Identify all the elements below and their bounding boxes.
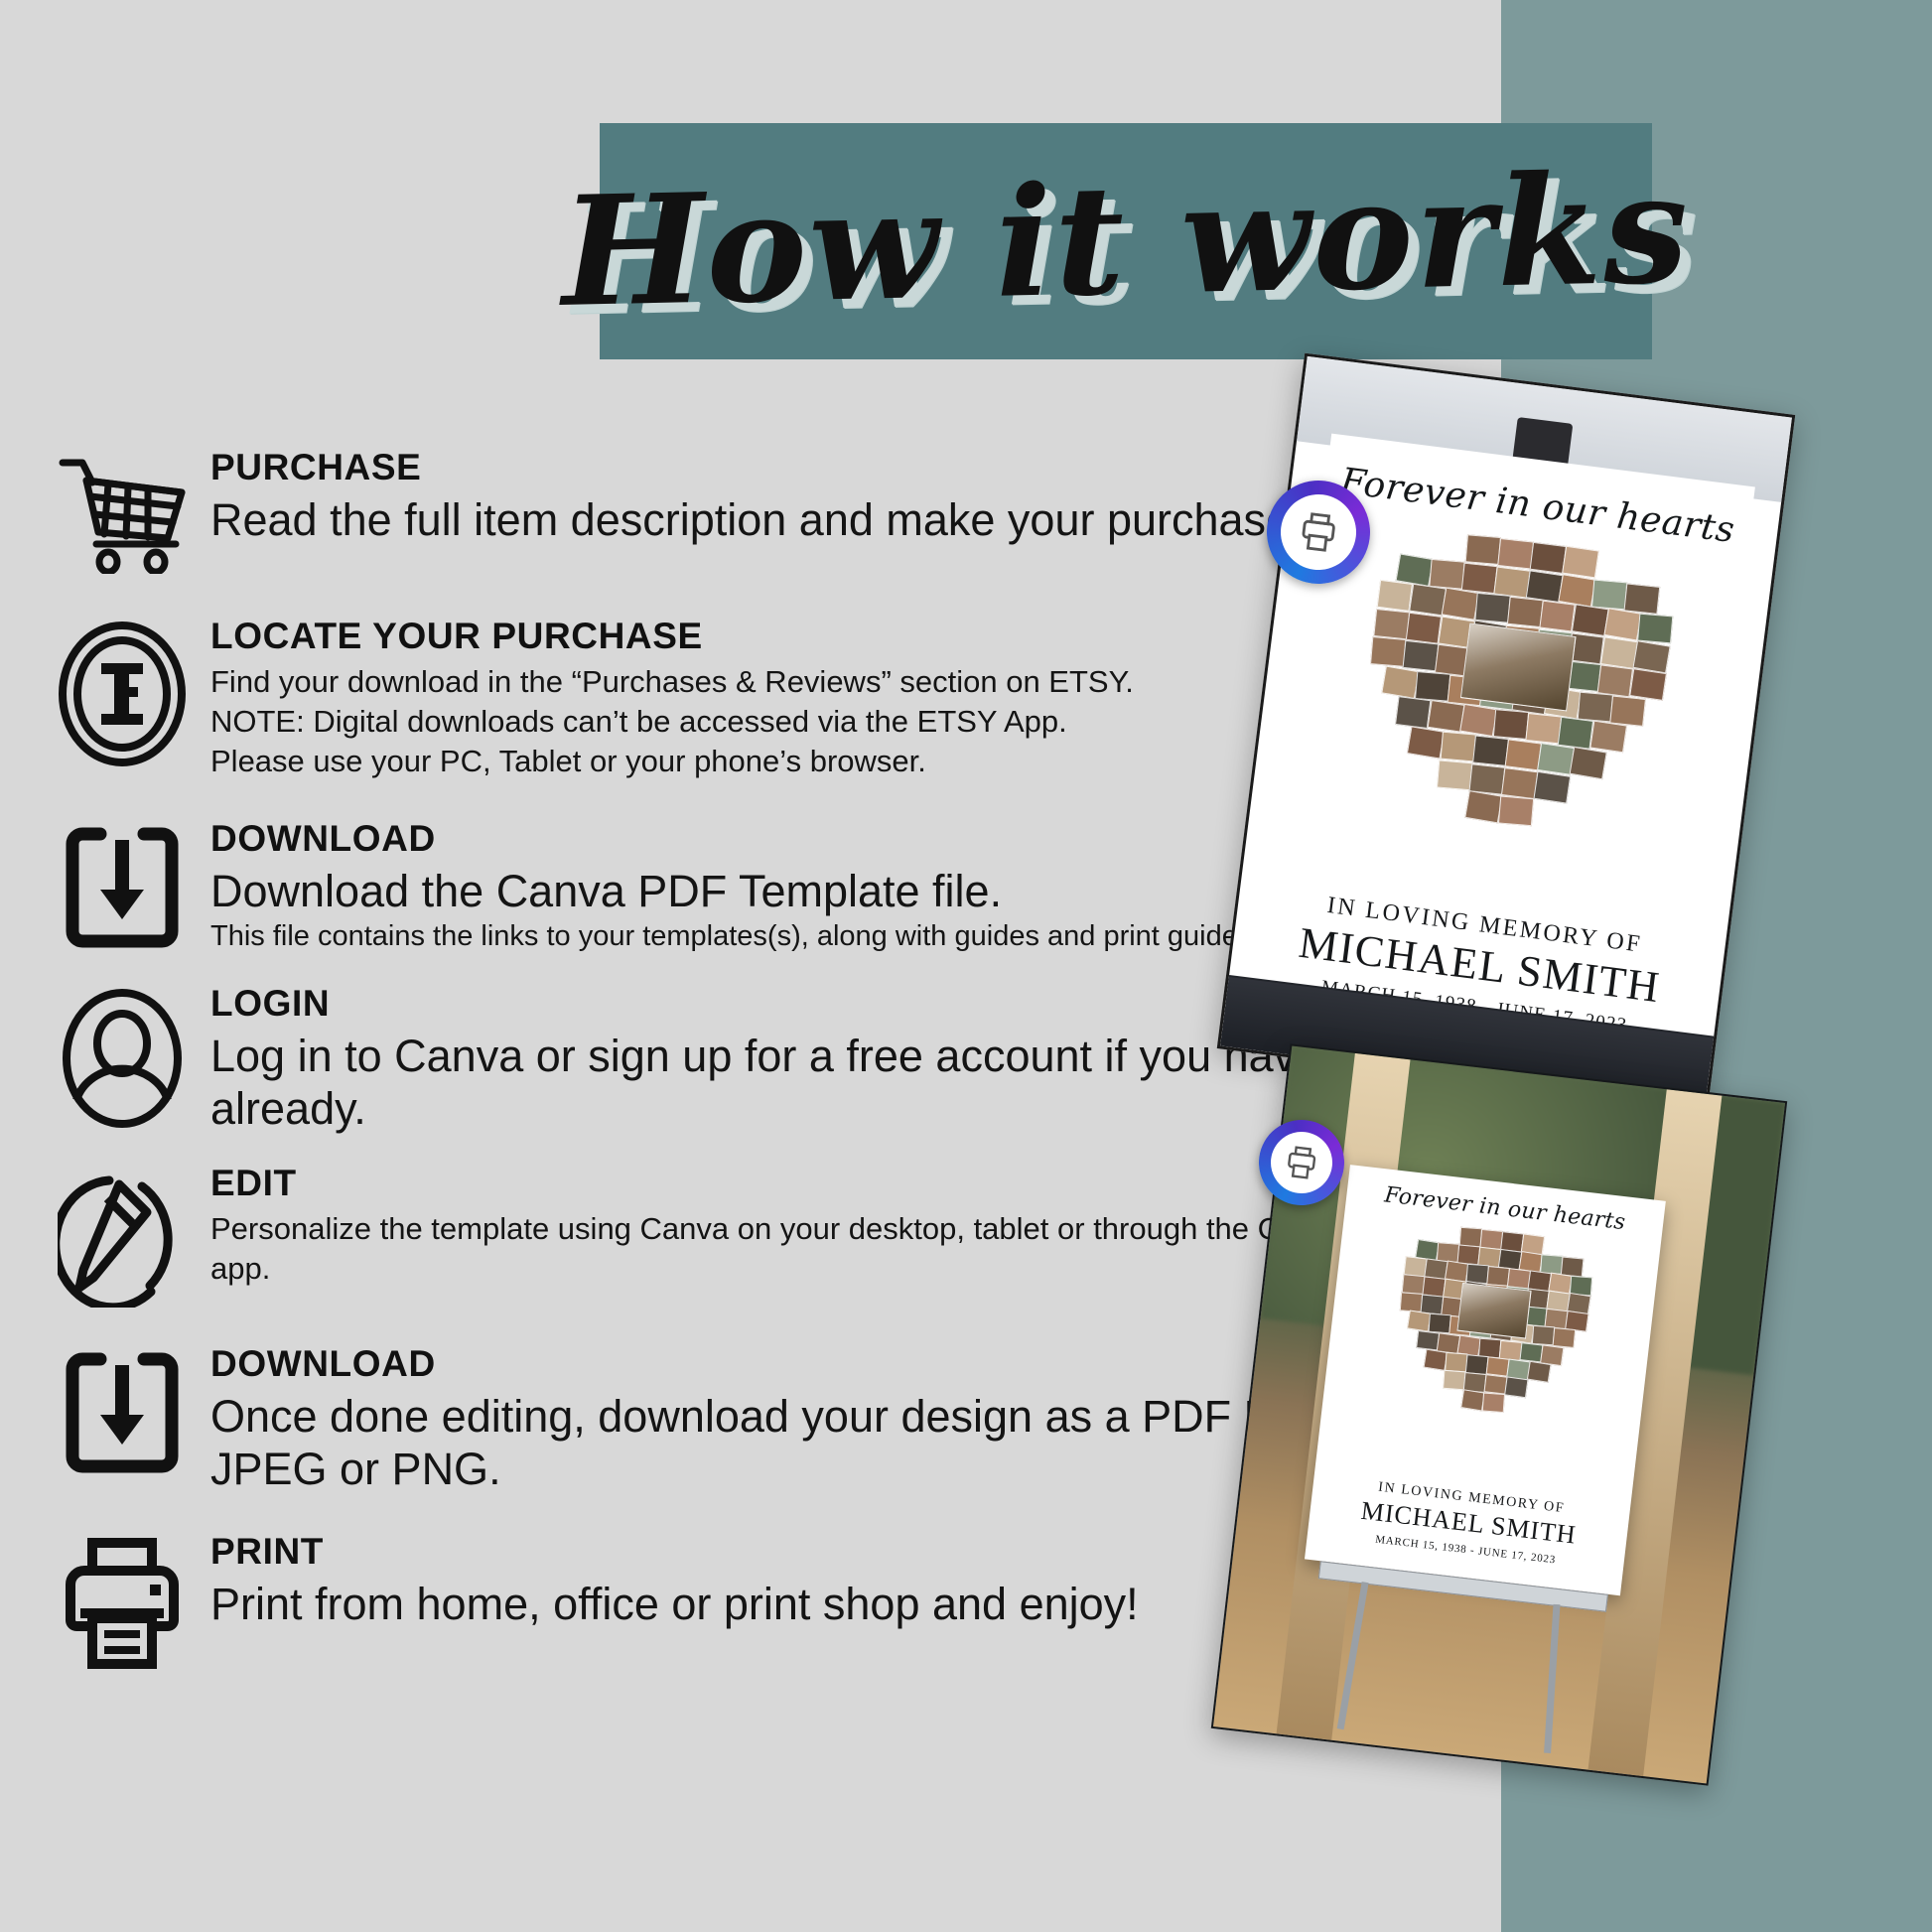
collage-photo-tile bbox=[1395, 696, 1432, 728]
title-banner bbox=[600, 123, 1652, 359]
photo-heart-collage bbox=[1377, 1219, 1605, 1431]
collage-photo-tile bbox=[1591, 579, 1627, 610]
step-download-body: DOWNLOAD Download the Canva PDF Template… bbox=[197, 820, 1246, 955]
collage-photo-tile bbox=[1578, 692, 1613, 723]
collage-photo-tile bbox=[1396, 553, 1434, 587]
collage-photo-tile bbox=[1526, 570, 1563, 603]
collage-photo-tile bbox=[1474, 593, 1510, 623]
user-account-icon bbox=[48, 985, 197, 1128]
etsy-e-icon bbox=[48, 618, 197, 766]
easel-stand-leg-right bbox=[1544, 1604, 1560, 1753]
collage-photo-tile bbox=[1493, 566, 1530, 598]
poster-mockup-top: Forever in our hearts IN LOVING MEMORY O… bbox=[1217, 353, 1796, 1111]
step-purchase: PURCHASE Read the full item description … bbox=[48, 449, 1378, 574]
collage-photo-tile bbox=[1571, 604, 1607, 636]
step-print-body: PRINT Print from home, office or print s… bbox=[197, 1533, 1139, 1630]
collage-photo-tile bbox=[1570, 747, 1607, 780]
collage-photo-tile bbox=[1506, 597, 1542, 628]
collage-photo-tile bbox=[1603, 608, 1641, 641]
collage-photo-tile bbox=[1415, 671, 1450, 702]
step-locate-your-purchase: LOCATE YOUR PURCHASE Find your download … bbox=[48, 618, 1378, 782]
collage-photo-tile bbox=[1624, 583, 1660, 615]
badge-inner bbox=[1267, 1128, 1335, 1196]
collage-photo-tile bbox=[1562, 546, 1598, 579]
download-icon bbox=[48, 1345, 197, 1476]
collage-photo-tile bbox=[1369, 636, 1405, 667]
collage-photo-tile bbox=[1537, 743, 1574, 775]
collage-photo-tile bbox=[1505, 739, 1542, 770]
step-print: PRINT Print from home, office or print s… bbox=[48, 1533, 1378, 1670]
collage-photo-tile bbox=[1492, 710, 1528, 741]
step-locate-body: LOCATE YOUR PURCHASE Find your download … bbox=[197, 618, 1134, 782]
collage-photo-tile bbox=[1441, 588, 1478, 621]
collage-photo-tile bbox=[1405, 612, 1442, 643]
step-text-line-3: Please use your PC, Tablet or your phone… bbox=[210, 742, 1134, 781]
collage-photo-tile bbox=[1596, 665, 1633, 697]
shopping-cart-icon bbox=[48, 449, 197, 574]
step-title: PURCHASE bbox=[210, 449, 1304, 487]
collage-photo-tile bbox=[1530, 542, 1567, 574]
step-download-template: DOWNLOAD Download the Canva PDF Template… bbox=[48, 820, 1378, 955]
step-login-body: LOGIN Log in to Canva or sign up for a f… bbox=[197, 985, 1378, 1135]
step-title: EDIT bbox=[210, 1165, 1378, 1203]
collage-photo-tile bbox=[1629, 668, 1666, 701]
step-edit-body: EDIT Personalize the template using Canv… bbox=[197, 1165, 1378, 1289]
step-edit: EDIT Personalize the template using Canv… bbox=[48, 1165, 1378, 1308]
step-purchase-body: PURCHASE Read the full item description … bbox=[197, 449, 1304, 546]
collage-photo-tile bbox=[1557, 717, 1593, 749]
badge-inner bbox=[1277, 490, 1361, 575]
step-login: LOGIN Log in to Canva or sign up for a f… bbox=[48, 985, 1378, 1135]
step-text: Log in to Canva or sign up for a free ac… bbox=[210, 1030, 1378, 1135]
collage-photo-tile bbox=[1468, 763, 1504, 795]
collage-photo-tile bbox=[1373, 609, 1409, 640]
collage-photo-tile bbox=[1599, 636, 1636, 669]
collage-photo-tile bbox=[1441, 732, 1476, 762]
collage-photo-tile bbox=[1525, 713, 1561, 745]
step-text: Once done editing, download your design … bbox=[210, 1390, 1378, 1495]
step-text: Read the full item description and make … bbox=[210, 493, 1304, 546]
collage-photo-tile bbox=[1381, 665, 1419, 699]
collage-photo-tile bbox=[1464, 790, 1502, 824]
step-title: LOGIN bbox=[210, 985, 1378, 1024]
collage-photo-tile bbox=[1637, 614, 1673, 644]
step-text: This file contains the links to your tem… bbox=[210, 917, 1246, 955]
collage-photo-tile bbox=[1539, 601, 1576, 632]
collage-photo-tile bbox=[1376, 580, 1413, 612]
collage-photo-tile bbox=[1498, 796, 1534, 827]
printer-icon bbox=[48, 1533, 197, 1670]
collage-photo-tile bbox=[1461, 562, 1497, 594]
pencil-edit-icon bbox=[48, 1165, 197, 1308]
collage-photo-tile bbox=[1402, 640, 1438, 672]
collage-photo-tile bbox=[1437, 759, 1472, 790]
collage-photo-tile bbox=[1589, 721, 1626, 754]
step-headline: Download the Canva PDF Template file. bbox=[210, 865, 1246, 917]
collage-photo-tile bbox=[1552, 1327, 1576, 1348]
collage-photo-tile bbox=[1478, 1337, 1501, 1357]
step-text-line-2: NOTE: Digital downloads can’t be accesse… bbox=[210, 702, 1134, 742]
download-icon bbox=[48, 820, 197, 951]
step-download-design: DOWNLOAD Once done editing, download you… bbox=[48, 1345, 1378, 1495]
collage-photo-tile bbox=[1429, 558, 1464, 589]
step-title: DOWNLOAD bbox=[210, 820, 1246, 859]
collage-photo-tile bbox=[1527, 1360, 1552, 1382]
collage-feature-photo bbox=[1457, 1283, 1531, 1339]
step-text: Print from home, office or print shop an… bbox=[210, 1578, 1139, 1630]
collage-photo-tile bbox=[1558, 574, 1595, 608]
collage-photo-tile bbox=[1465, 534, 1501, 565]
poster-canvas: How it works P bbox=[0, 0, 1932, 1932]
collage-photo-tile bbox=[1609, 695, 1645, 727]
collage-photo-tile bbox=[1409, 584, 1446, 617]
photo-heart-collage bbox=[1333, 521, 1696, 858]
poster-sheet: Forever in our hearts IN LOVING MEMORY O… bbox=[1305, 1165, 1666, 1595]
step-text-line-1: Find your download in the “Purchases & R… bbox=[210, 662, 1134, 702]
step-download2-body: DOWNLOAD Once done editing, download you… bbox=[197, 1345, 1378, 1495]
collage-photo-tile bbox=[1504, 1376, 1528, 1397]
collage-photo-tile bbox=[1497, 538, 1533, 570]
step-title: PRINT bbox=[210, 1533, 1139, 1572]
step-title: LOCATE YOUR PURCHASE bbox=[210, 618, 1134, 656]
collage-photo-tile bbox=[1427, 700, 1463, 733]
steps-list: PURCHASE Read the full item description … bbox=[48, 449, 1378, 1710]
collage-feature-photo bbox=[1460, 622, 1576, 711]
step-title: DOWNLOAD bbox=[210, 1345, 1378, 1384]
collage-photo-tile bbox=[1501, 767, 1538, 799]
collage-photo-tile bbox=[1533, 770, 1570, 803]
collage-photo-tile bbox=[1482, 1392, 1505, 1412]
collage-photo-tile bbox=[1407, 726, 1445, 759]
collage-photo-tile bbox=[1472, 736, 1508, 767]
step-text: Personalize the template using Canva on … bbox=[210, 1209, 1378, 1290]
